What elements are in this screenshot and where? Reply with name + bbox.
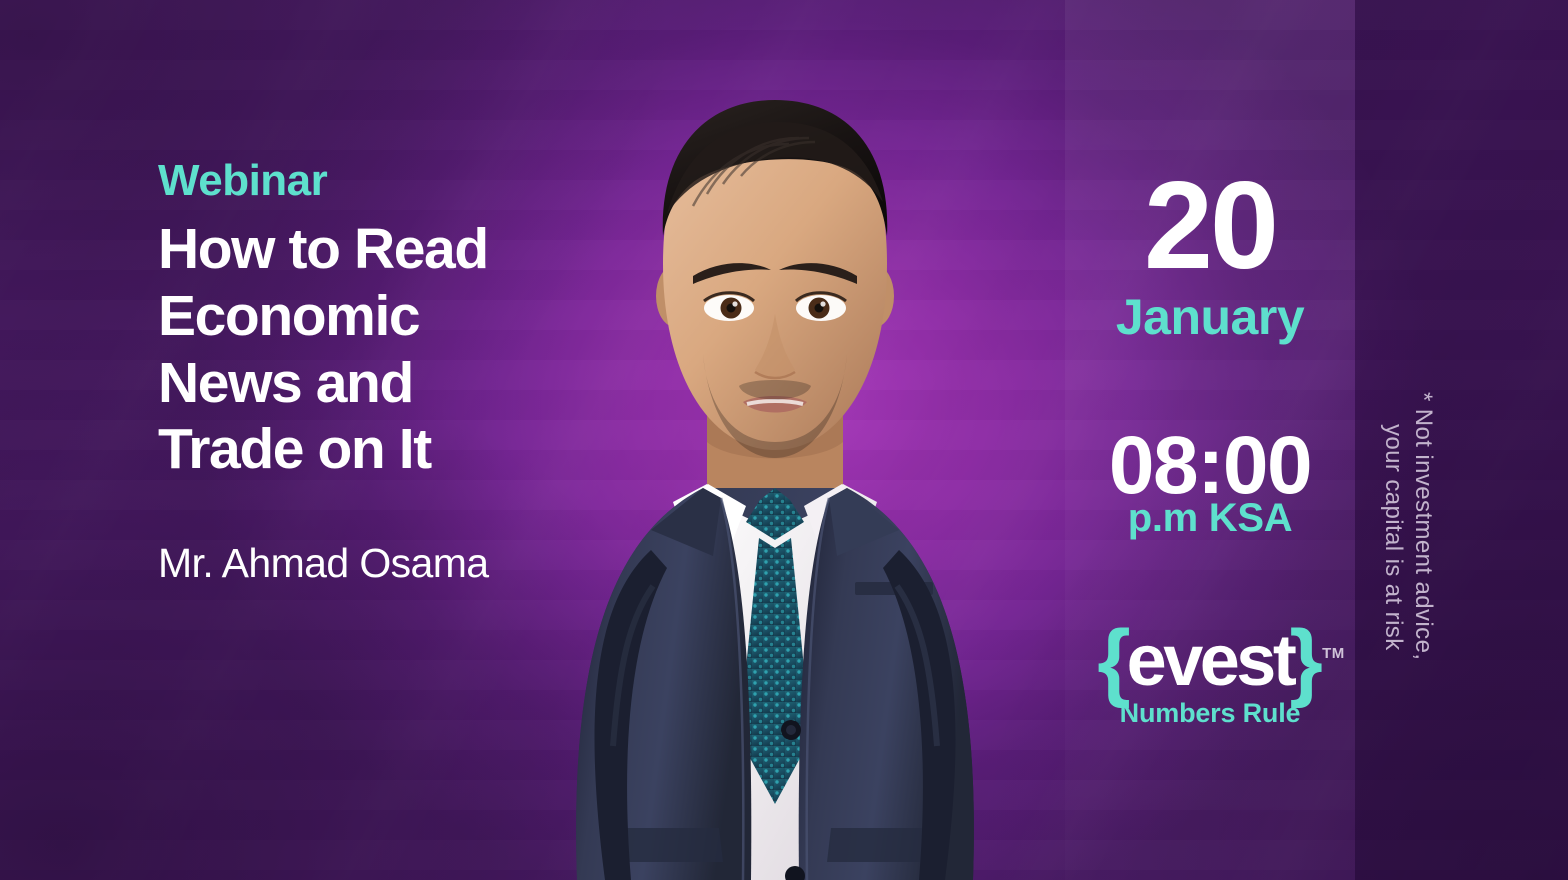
speaker-name: Mr. Ahmad Osama: [158, 540, 489, 587]
logo-mark: {evest} TM: [1097, 620, 1323, 696]
disclaimer-block: * Not investment advice, your capital is…: [1355, 0, 1568, 880]
headline-block: Webinar How to Read Economic News and Tr…: [158, 158, 638, 483]
headline-line-3: News and: [158, 350, 638, 417]
event-month: January: [1065, 292, 1355, 342]
webinar-promo-banner: Webinar How to Read Economic News and Tr…: [0, 0, 1568, 880]
brand-tagline: Numbers Rule: [1065, 700, 1355, 727]
page-title: How to Read Economic News and Trade on I…: [158, 216, 638, 483]
headline-line-4: Trade on It: [158, 416, 638, 483]
disclaimer-line-2: your capital is at risk: [1381, 424, 1405, 651]
kicker-label: Webinar: [158, 158, 638, 204]
event-day: 20: [1065, 164, 1355, 288]
event-timezone: p.m KSA: [1065, 498, 1355, 538]
trademark-icon: TM: [1322, 616, 1345, 692]
brace-left-icon: {: [1097, 618, 1130, 704]
brand-logo: {evest} TM: [1065, 620, 1355, 696]
logo-wordmark: evest: [1127, 625, 1294, 697]
disclaimer-line-1: * Not investment advice,: [1411, 392, 1435, 660]
event-time: 08:00: [1065, 425, 1355, 507]
headline-line-1: How to Read: [158, 216, 638, 283]
schedule-column: 20 January 08:00 p.m KSA {evest} TM Numb…: [1065, 0, 1355, 880]
headline-line-2: Economic: [158, 283, 638, 350]
brace-right-icon: }: [1289, 618, 1322, 704]
